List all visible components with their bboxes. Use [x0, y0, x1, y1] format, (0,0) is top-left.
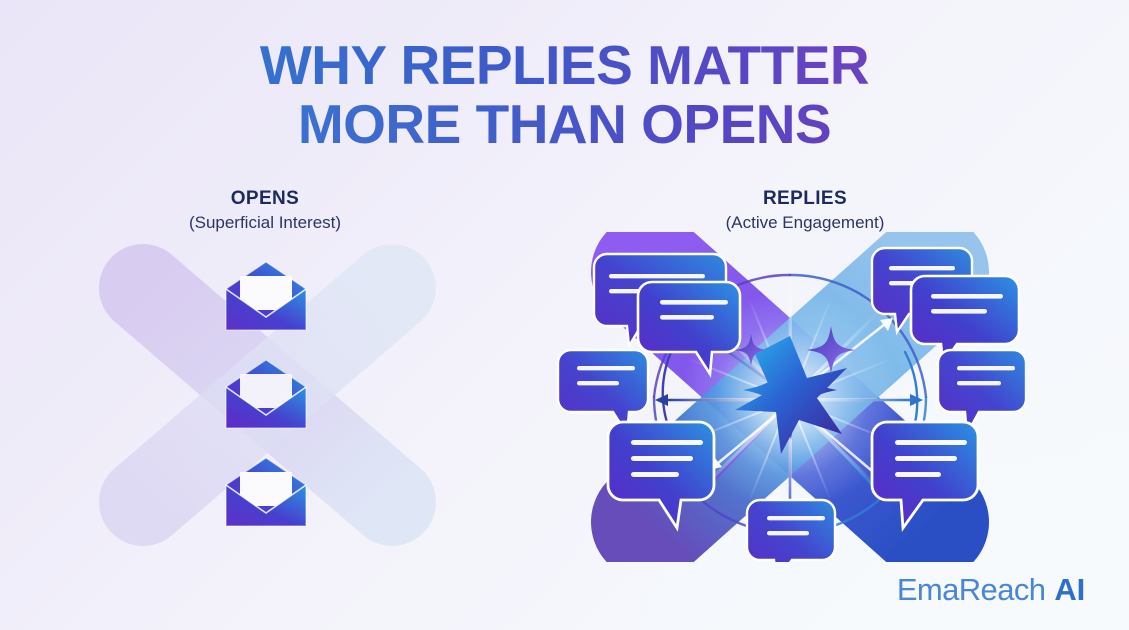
replies-panel-heading: REPLIES (Active Engagement) — [655, 188, 955, 233]
title-line-1: WHY REPLIES MATTER — [0, 36, 1129, 95]
page-title: WHY REPLIES MATTER MORE THAN OPENS — [0, 36, 1129, 155]
logo-ai-suffix: AI — [1054, 572, 1085, 608]
opens-illustration — [95, 240, 440, 550]
brand-logo: EmaReach AI — [897, 572, 1085, 608]
logo-wordmark: EmaReach — [897, 572, 1046, 608]
chat-bubble-icon — [747, 500, 835, 562]
open-envelope-icon — [223, 260, 309, 332]
title-line-2: MORE THAN OPENS — [0, 95, 1129, 154]
opens-panel-heading: OPENS (Superficial Interest) — [115, 188, 415, 233]
replies-illustration — [555, 232, 1025, 562]
open-envelope-icon — [223, 358, 309, 430]
opens-heading-subtitle: (Superficial Interest) — [115, 213, 415, 233]
envelope-stack — [95, 240, 440, 550]
replies-heading-title: REPLIES — [655, 188, 955, 210]
replies-heading-subtitle: (Active Engagement) — [655, 213, 955, 233]
infographic-canvas: WHY REPLIES MATTER MORE THAN OPENS OPENS… — [0, 0, 1129, 630]
open-envelope-icon — [223, 456, 309, 528]
replies-network-graphic — [555, 232, 1025, 562]
opens-heading-title: OPENS — [115, 188, 415, 210]
